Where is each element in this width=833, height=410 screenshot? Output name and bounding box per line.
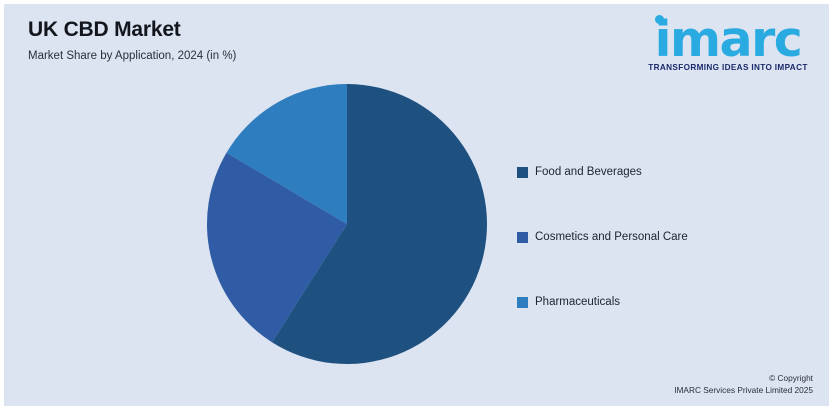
legend-item-label: Cosmetics and Personal Care bbox=[535, 230, 688, 244]
chart-header: UK CBD Market Market Share by Applicatio… bbox=[28, 17, 548, 64]
chart-card: UK CBD Market Market Share by Applicatio… bbox=[4, 4, 829, 406]
copyright-notice: © Copyright IMARC Services Private Limit… bbox=[674, 372, 813, 396]
pie-chart bbox=[202, 79, 492, 369]
pie-chart-svg bbox=[202, 79, 492, 369]
legend-item-pharmaceuticals[interactable]: Pharmaceuticals bbox=[517, 294, 797, 310]
logo-wordmark: imarc bbox=[644, 14, 812, 66]
page-title: UK CBD Market bbox=[28, 17, 548, 43]
legend-swatch-icon bbox=[517, 297, 528, 308]
legend-item-label: Pharmaceuticals bbox=[535, 295, 620, 309]
imarc-logo: imarc TRANSFORMING IDEAS INTO IMPACT bbox=[644, 14, 812, 84]
legend-swatch-icon bbox=[517, 232, 528, 243]
chart-legend: Food and Beverages Cosmetics and Persona… bbox=[517, 164, 797, 310]
copyright-line-2: IMARC Services Private Limited 2025 bbox=[674, 384, 813, 396]
legend-item-cosmetics-and-personal-care[interactable]: Cosmetics and Personal Care bbox=[517, 229, 797, 245]
imarc-logo-dot-icon bbox=[655, 15, 664, 24]
legend-item-food-and-beverages[interactable]: Food and Beverages bbox=[517, 164, 797, 180]
legend-item-label: Food and Beverages bbox=[535, 165, 642, 179]
copyright-line-1: © Copyright bbox=[674, 372, 813, 384]
chart-subtitle: Market Share by Application, 2024 (in %) bbox=[28, 49, 548, 64]
legend-swatch-icon bbox=[517, 167, 528, 178]
pie-slice-group bbox=[207, 84, 487, 364]
logo-wordmark-text: imarc bbox=[655, 11, 802, 68]
